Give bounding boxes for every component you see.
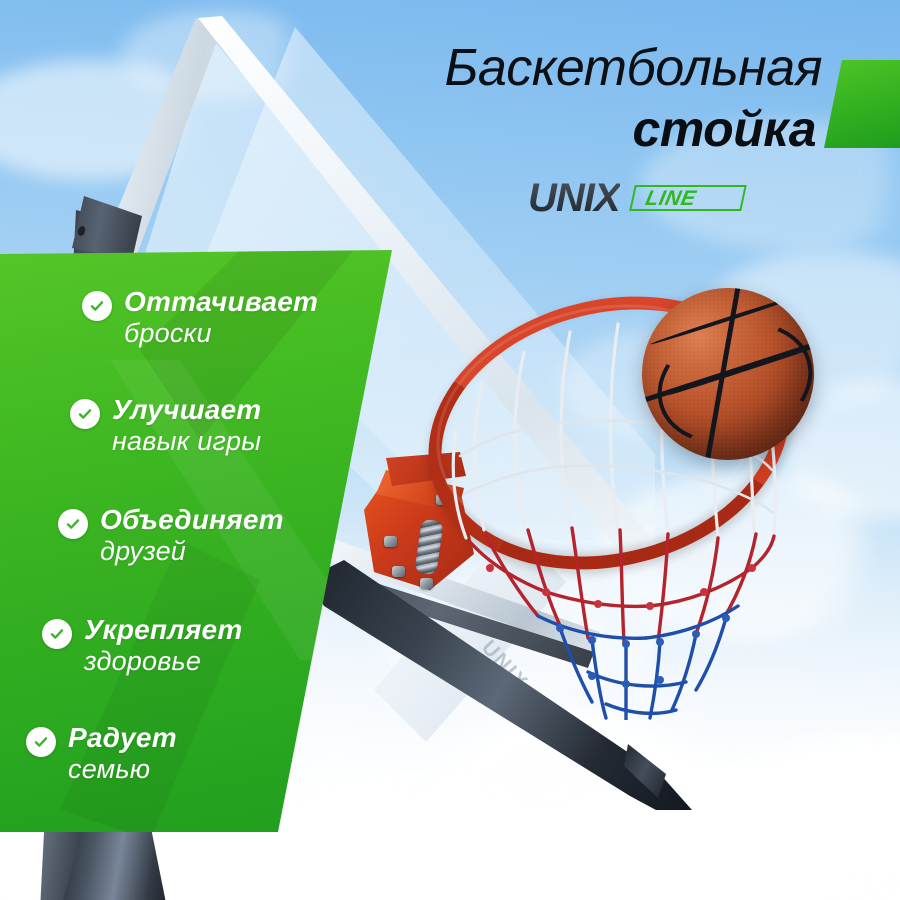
feature-list: Оттачивает броски Улучшает навык игры Об…: [0, 240, 400, 840]
feature-subtitle: семью: [68, 756, 177, 783]
feature-title: Объединяет: [100, 506, 284, 534]
feature-subtitle: друзей: [100, 538, 284, 565]
list-item: Оттачивает броски: [82, 288, 318, 347]
brand-sub-box: LINE: [629, 185, 747, 211]
basketball-hoop: [420, 280, 820, 720]
list-item: Объединяет друзей: [58, 506, 284, 565]
check-circle-icon: [26, 727, 56, 757]
check-circle-icon: [82, 291, 112, 321]
promo-poster: UNIX: [0, 0, 900, 900]
feature-title: Улучшает: [112, 396, 261, 424]
feature-title: Укрепляет: [84, 616, 242, 644]
basketball: [642, 288, 814, 460]
feature-title: Радует: [68, 724, 177, 752]
check-circle-icon: [58, 509, 88, 539]
feature-subtitle: здоровье: [84, 648, 242, 675]
feature-subtitle: броски: [124, 320, 318, 347]
check-circle-icon: [42, 619, 72, 649]
list-item: Радует семью: [26, 724, 177, 783]
brand-sub: LINE: [643, 188, 697, 209]
feature-title: Оттачивает: [124, 288, 318, 316]
feature-subtitle: навык игры: [112, 428, 261, 455]
brand-name: UNIX: [528, 178, 620, 218]
list-item: Улучшает навык игры: [70, 396, 261, 455]
list-item: Укрепляет здоровье: [42, 616, 242, 675]
check-circle-icon: [70, 399, 100, 429]
brand-logo: UNIX LINE: [528, 178, 744, 218]
